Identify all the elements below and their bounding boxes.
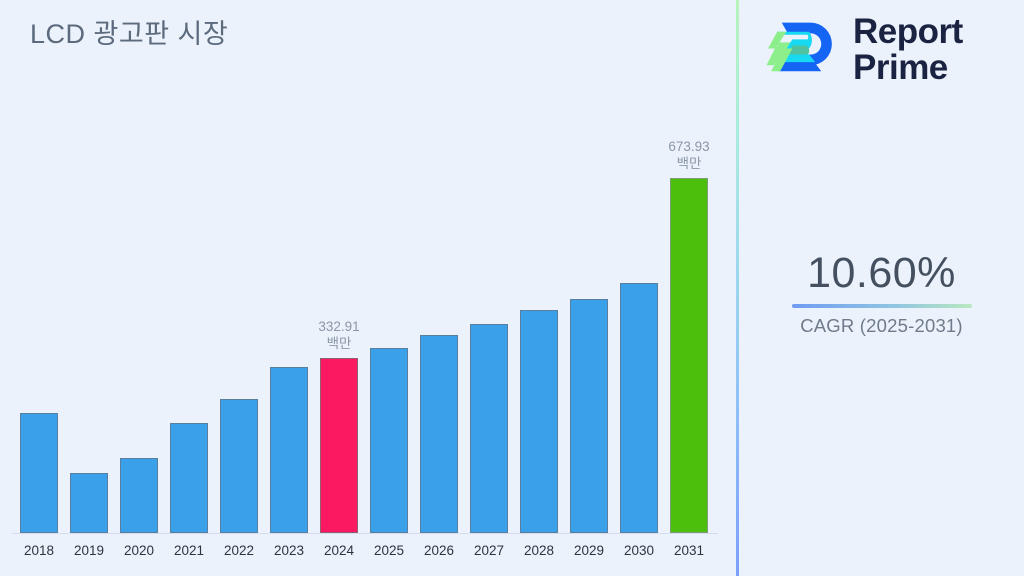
x-tick-2019: 2019 [64, 543, 114, 558]
x-tick-2022: 2022 [214, 543, 264, 558]
cagr-caption: CAGR (2025-2031) [739, 315, 1024, 337]
bar-2018 [20, 413, 58, 533]
bar-2022 [220, 399, 258, 533]
x-tick-2024: 2024 [314, 543, 364, 558]
bar-2020 [120, 458, 158, 533]
x-tick-2018: 2018 [14, 543, 64, 558]
bar-2028 [520, 310, 558, 533]
x-tick-2030: 2030 [614, 543, 664, 558]
value-label-2024: 332.91백만 [289, 318, 389, 352]
bar-2029 [570, 299, 608, 533]
value-label-unit-2024: 백만 [289, 335, 389, 352]
x-tick-2029: 2029 [564, 543, 614, 558]
bar-2026 [420, 335, 458, 533]
x-tick-2025: 2025 [364, 543, 414, 558]
x-tick-2028: 2028 [514, 543, 564, 558]
bar-2024 [320, 358, 358, 533]
x-tick-2021: 2021 [164, 543, 214, 558]
report-prime-logo-icon [765, 12, 841, 88]
brand-panel: Report Prime 10.60% CAGR (2025-2031) [739, 0, 1024, 576]
bar-2023 [270, 367, 308, 533]
bar-2019 [70, 473, 108, 533]
bar-2025 [370, 348, 408, 533]
x-tick-2027: 2027 [464, 543, 514, 558]
brand-name-line1: Report [853, 14, 963, 50]
cagr-value: 10.60% [739, 248, 1024, 298]
value-label-2031: 673.93백만 [639, 138, 739, 172]
bar-2031 [670, 178, 708, 533]
bar-2027 [470, 324, 508, 533]
brand-name-line2: Prime [853, 50, 963, 86]
brand-name: Report Prime [853, 14, 963, 86]
cagr-divider-rule [792, 304, 972, 308]
x-tick-2020: 2020 [114, 543, 164, 558]
value-label-number-2024: 332.91 [289, 318, 389, 335]
cagr-block: 10.60% CAGR (2025-2031) [739, 248, 1024, 337]
x-tick-2031: 2031 [664, 543, 714, 558]
bar-2021 [170, 423, 208, 533]
bar-chart-plot-area: 332.91백만673.93백만 20182019202020212022202… [0, 0, 736, 576]
chart-panel: LCD 광고판 시장 332.91백만673.93백만 201820192020… [0, 0, 736, 576]
x-tick-2026: 2026 [414, 543, 464, 558]
value-label-number-2031: 673.93 [639, 138, 739, 155]
value-label-unit-2031: 백만 [639, 155, 739, 172]
brand-logo: Report Prime [765, 12, 963, 88]
market-size-infographic: LCD 광고판 시장 332.91백만673.93백만 201820192020… [0, 0, 1024, 576]
bar-2030 [620, 283, 658, 533]
x-axis-baseline [12, 533, 718, 534]
x-tick-2023: 2023 [264, 543, 314, 558]
